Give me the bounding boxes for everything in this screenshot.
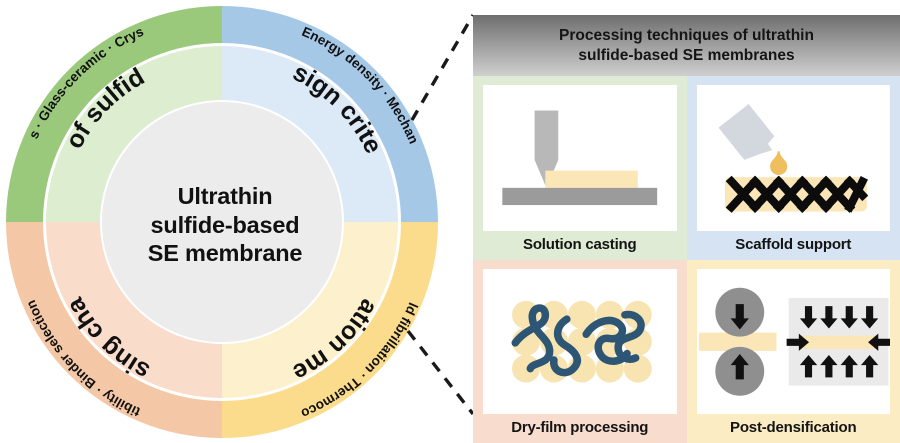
pouring-beaker-mesh-icon — [697, 85, 891, 231]
solution-casting-artwork — [483, 85, 677, 231]
wheel-hub — [102, 102, 342, 342]
technique-label-scaffold-support: Scaffold support — [735, 231, 851, 256]
panel-title-line-1: Processing techniques of ultrathin — [559, 26, 814, 46]
processing-techniques-panel: Processing techniques of ultrathin sulfi… — [473, 15, 900, 443]
cast-film — [545, 171, 637, 188]
technique-label-post-densification: Post-densification — [730, 414, 856, 439]
panel-title-line-2: sulfide-based SE membranes — [578, 46, 794, 66]
panel-header: Processing techniques of ultrathin sulfi… — [473, 15, 900, 76]
scaffold-support-artwork — [697, 85, 891, 231]
substrate — [502, 188, 657, 205]
concept-wheel: Glasses · Glass-ceramic · Crystalline Th… — [3, 3, 441, 441]
fibril-particles-icon — [483, 269, 677, 415]
beaker-shape — [718, 104, 774, 160]
calender-rollers-isostatic-icon — [697, 269, 891, 415]
dry-film-artwork — [483, 269, 677, 415]
technique-label-solution-casting: Solution casting — [523, 231, 636, 256]
technique-cell-post-densification[interactable]: Post-densification — [687, 260, 900, 443]
post-densification-artwork — [697, 269, 891, 415]
technique-label-dry-film-processing: Dry-film processing — [511, 414, 648, 439]
technique-grid: Solution casting — [473, 76, 900, 443]
figure-root: Glasses · Glass-ceramic · Crystalline Th… — [0, 0, 900, 443]
droplet-shape — [770, 151, 787, 175]
doctor-blade-icon — [483, 85, 677, 231]
isostatic-film — [800, 335, 875, 348]
technique-cell-dry-film-processing[interactable]: Dry-film processing — [473, 260, 687, 443]
technique-cell-solution-casting[interactable]: Solution casting — [473, 76, 687, 260]
technique-cell-scaffold-support[interactable]: Scaffold support — [687, 76, 900, 260]
wheel-svg: Glasses · Glass-ceramic · Crystalline Th… — [3, 3, 441, 441]
